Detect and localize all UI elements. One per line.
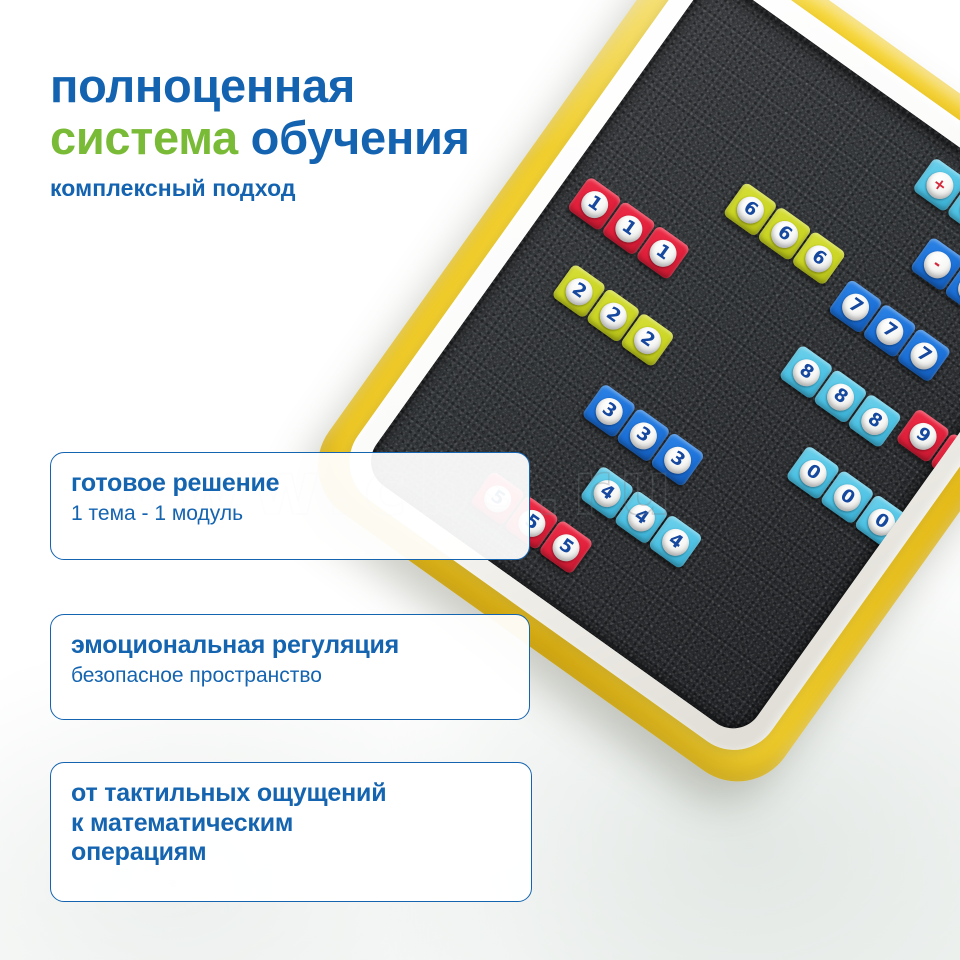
- tile-digit: 7: [837, 288, 875, 326]
- tile-digit: 3: [624, 416, 662, 454]
- headline-block: полноценная система обучения комплексный…: [50, 62, 690, 202]
- tile-digit: 0: [828, 478, 866, 516]
- tile-digit: 0: [794, 454, 832, 492]
- tile-digit: 2: [594, 297, 632, 335]
- tile-strip: 2 2 2: [551, 263, 675, 368]
- tile-symbol: +: [921, 166, 959, 204]
- tile-digit: 3: [659, 441, 697, 479]
- tile-digit: 4: [622, 498, 660, 536]
- info-box-title: от тактильных ощущений к математическим …: [71, 779, 511, 868]
- tile-strip: 8 8 8: [778, 344, 902, 449]
- info-box-ready-solution: готовое решение 1 тема - 1 модуль: [50, 452, 530, 560]
- tile-strip: 6 6 6: [722, 181, 846, 286]
- tile-digit: 2: [629, 321, 667, 359]
- tile-digit: 4: [657, 523, 695, 561]
- info-box-subtitle: 1 тема - 1 модуль: [71, 501, 509, 526]
- tile-digit: 2: [560, 272, 598, 310]
- headline-line-2: система обучения: [50, 114, 690, 162]
- info-box-title: готовое решение: [71, 469, 509, 497]
- tile-digit: 6: [800, 239, 838, 277]
- info-box-subtitle: безопасное пространство: [71, 663, 509, 688]
- info-box-emotional-regulation: эмоциональная регуляция безопасное прост…: [50, 614, 530, 720]
- headline-line-1: полноценная: [50, 62, 690, 110]
- headline-subtitle: комплексный подход: [50, 175, 690, 202]
- info-box-title: эмоциональная регуляция: [71, 631, 509, 659]
- tile-digit: 7: [905, 336, 943, 374]
- tile-digit: 8: [856, 402, 894, 440]
- tile-digit: 6: [766, 215, 804, 253]
- tile-digit: 3: [590, 392, 628, 430]
- tile-digit: 1: [610, 209, 648, 247]
- tile-digit: 1: [644, 234, 682, 272]
- tile-digit: 5: [547, 528, 585, 566]
- tile-strip: 7 7 7: [828, 279, 952, 384]
- tile-digit: 7: [871, 312, 909, 350]
- tile-digit: 6: [731, 191, 769, 229]
- headline-word-green: система: [50, 111, 238, 164]
- tile-digit: 9: [904, 417, 942, 455]
- tile-symbol: -: [918, 245, 956, 283]
- tile-digit: 4: [588, 474, 626, 512]
- tile-digit: 8: [787, 353, 825, 391]
- headline-word-blue: обучения: [238, 111, 470, 164]
- poster-canvas: + + + - - - 6 6 6 7: [0, 0, 960, 960]
- tile-digit: 8: [822, 378, 860, 416]
- info-box-tactile-to-math: от тактильных ощущений к математическим …: [50, 762, 532, 902]
